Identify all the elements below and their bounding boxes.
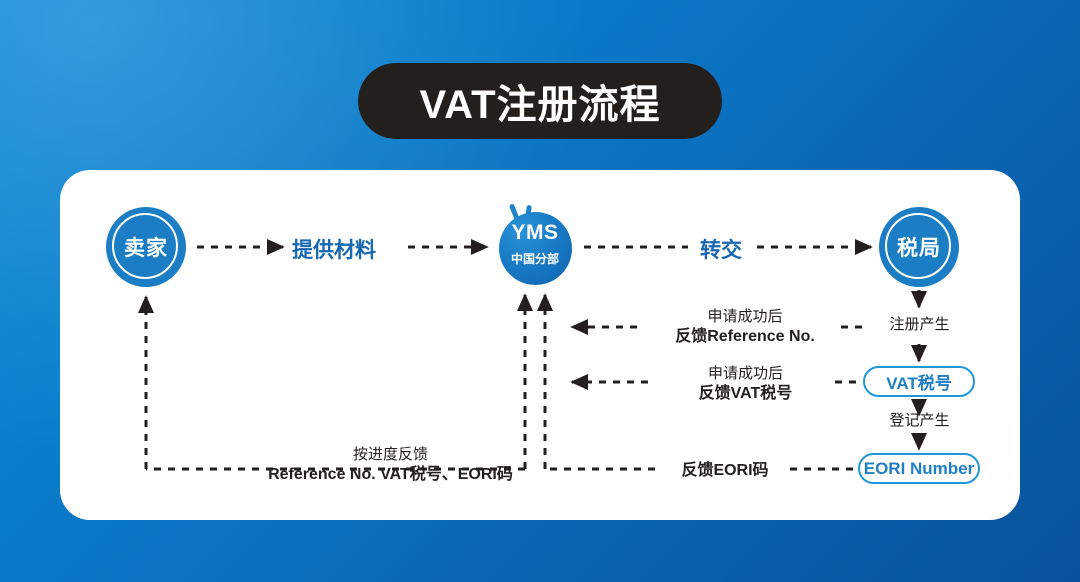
pill-vat-number-label: VAT税号 (886, 369, 951, 394)
label-register-step: 注册产生 (877, 313, 962, 334)
label-progress-feedback-line2: Reference No. VAT税号、EORI码 (213, 465, 568, 485)
node-seller-label: 卖家 (124, 232, 168, 262)
page-title-pill: VAT注册流程 (358, 63, 722, 139)
flowchart-canvas: VAT注册流程 (0, 0, 1080, 582)
node-yms[interactable]: YMS 中国分部 (495, 203, 575, 285)
node-seller[interactable]: 卖家 (106, 207, 186, 287)
label-feedback-reference-line2: 反馈Reference No. (640, 327, 850, 347)
pill-eori-number-label: EORI Number (864, 459, 975, 479)
node-tax-bureau[interactable]: 税局 (879, 207, 959, 287)
node-yms-label: YMS (495, 221, 575, 245)
label-feedback-eori: 反馈EORI码 (660, 456, 790, 480)
label-feedback-reference: 申请成功后 反馈Reference No. (640, 308, 850, 347)
label-feedback-vat-line1: 申请成功后 (653, 365, 838, 384)
label-transfer: 转交 (700, 234, 742, 264)
node-yms-sublabel: 中国分部 (495, 250, 575, 267)
label-provide-materials: 提供材料 (292, 234, 376, 264)
node-tax-bureau-label: 税局 (897, 232, 941, 262)
label-progress-feedback-line1: 按进度反馈 (213, 446, 568, 465)
label-feedback-vat: 申请成功后 反馈VAT税号 (653, 365, 838, 404)
label-feedback-vat-line2: 反馈VAT税号 (653, 384, 838, 404)
label-record-step: 登记产生 (877, 409, 962, 430)
label-feedback-reference-line1: 申请成功后 (640, 308, 850, 327)
pill-vat-number[interactable]: VAT税号 (863, 366, 975, 397)
label-progress-feedback: 按进度反馈 Reference No. VAT税号、EORI码 (213, 446, 568, 485)
pill-eori-number[interactable]: EORI Number (858, 453, 980, 484)
page-title: VAT注册流程 (419, 72, 660, 130)
